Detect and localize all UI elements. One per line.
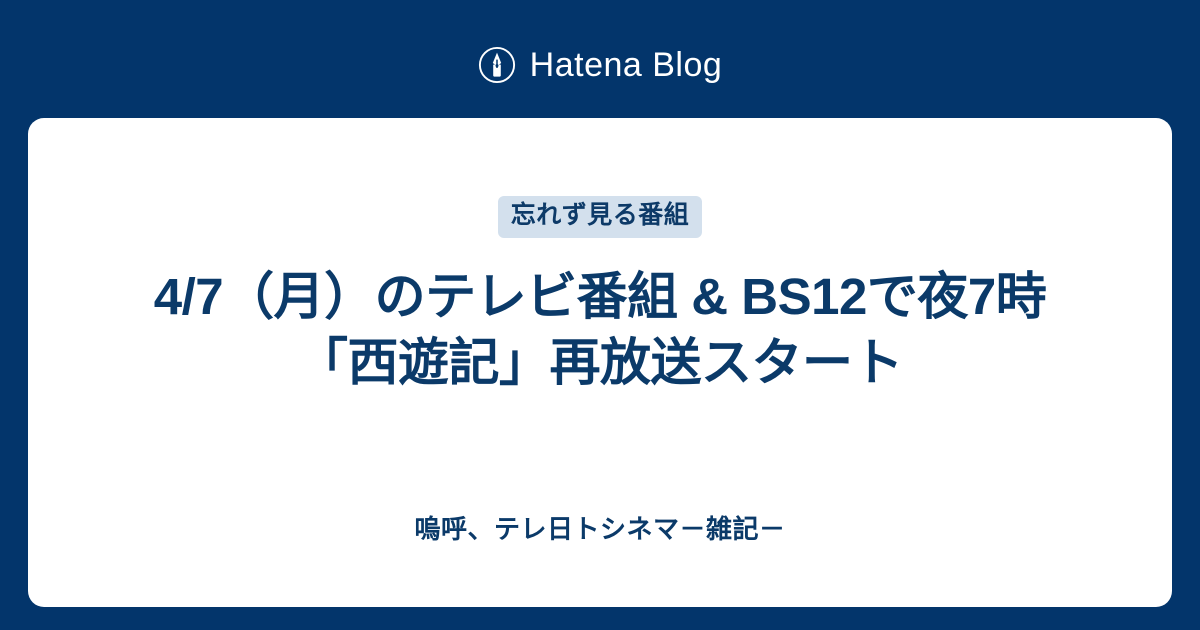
hatena-blog-brand: Hatena Blog	[0, 40, 1200, 90]
blog-name: 嗚呼、テレ日トシネマ－雑記－	[28, 514, 1172, 545]
pen-nib-circle-icon	[478, 46, 516, 84]
entry-card: 忘れず見る番組 4/7（月）のテレビ番組 & BS12で夜7時「西遊記」再放送ス…	[28, 118, 1172, 607]
entry-title: 4/7（月）のテレビ番組 & BS12で夜7時「西遊記」再放送スタート	[150, 264, 1050, 397]
category-badge[interactable]: 忘れず見る番組	[498, 196, 703, 238]
brand-name-label: Hatena Blog	[530, 48, 723, 82]
og-share-card: Hatena Blog 忘れず見る番組 4/7（月）のテレビ番組 & BS12で…	[0, 0, 1200, 630]
